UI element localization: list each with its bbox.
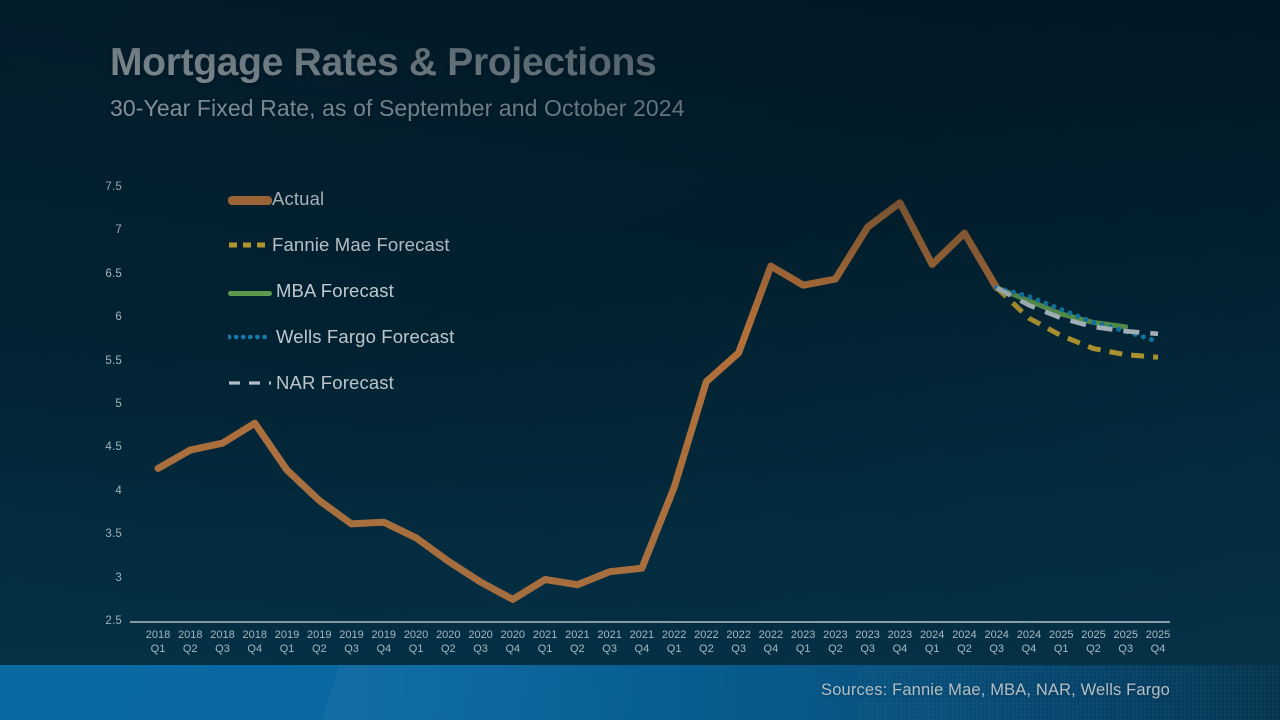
- y-axis-tick-label: 2.5: [78, 615, 122, 627]
- legend-item-nar[interactable]: NAR Forecast: [228, 360, 454, 406]
- legend-swatch-actual: [228, 196, 272, 205]
- legend-label: Actual: [272, 188, 324, 210]
- x-axis-tick-label: 2025Q4: [1139, 629, 1177, 656]
- y-axis-tick-label: 7: [78, 224, 122, 236]
- legend-swatch-nar: [228, 376, 272, 390]
- y-axis-tick-label: 6.5: [78, 268, 122, 280]
- legend-item-mba[interactable]: MBA Forecast: [228, 268, 454, 314]
- legend-swatch-wells_fargo: [228, 330, 272, 344]
- y-axis-tick-label: 6: [78, 311, 122, 323]
- legend-label: MBA Forecast: [276, 280, 394, 302]
- legend-label: Fannie Mae Forecast: [272, 234, 450, 256]
- legend-item-actual[interactable]: Actual: [228, 176, 454, 222]
- y-axis-tick-label: 3.5: [78, 528, 122, 540]
- sources-note: Sources: Fannie Mae, MBA, NAR, Wells Far…: [821, 681, 1170, 700]
- y-axis-tick-label: 4.5: [78, 441, 122, 453]
- y-axis-tick-label: 5: [78, 398, 122, 410]
- y-axis-tick-label: 4: [78, 485, 122, 497]
- legend-item-wells_fargo[interactable]: Wells Fargo Forecast: [228, 314, 454, 360]
- y-axis-tick-label: 5.5: [78, 355, 122, 367]
- legend-label: Wells Fargo Forecast: [276, 326, 454, 348]
- line-chart: 7.576.565.554.543.532.5 2018Q12018Q22018…: [0, 0, 1280, 665]
- legend-item-fannie_mae[interactable]: Fannie Mae Forecast: [228, 222, 454, 268]
- legend-label: NAR Forecast: [276, 372, 394, 394]
- y-axis-tick-label: 7.5: [78, 181, 122, 193]
- footer-bar: Sources: Fannie Mae, MBA, NAR, Wells Far…: [0, 665, 1280, 720]
- legend-swatch-mba: [228, 291, 272, 296]
- y-axis-tick-label: 3: [78, 572, 122, 584]
- chart-plot-area: [0, 0, 1280, 665]
- chart-legend: ActualFannie Mae ForecastMBA ForecastWel…: [228, 176, 454, 406]
- legend-swatch-fannie_mae: [228, 238, 272, 252]
- slide-canvas: Mortgage Rates & Projections 30-Year Fix…: [0, 0, 1280, 720]
